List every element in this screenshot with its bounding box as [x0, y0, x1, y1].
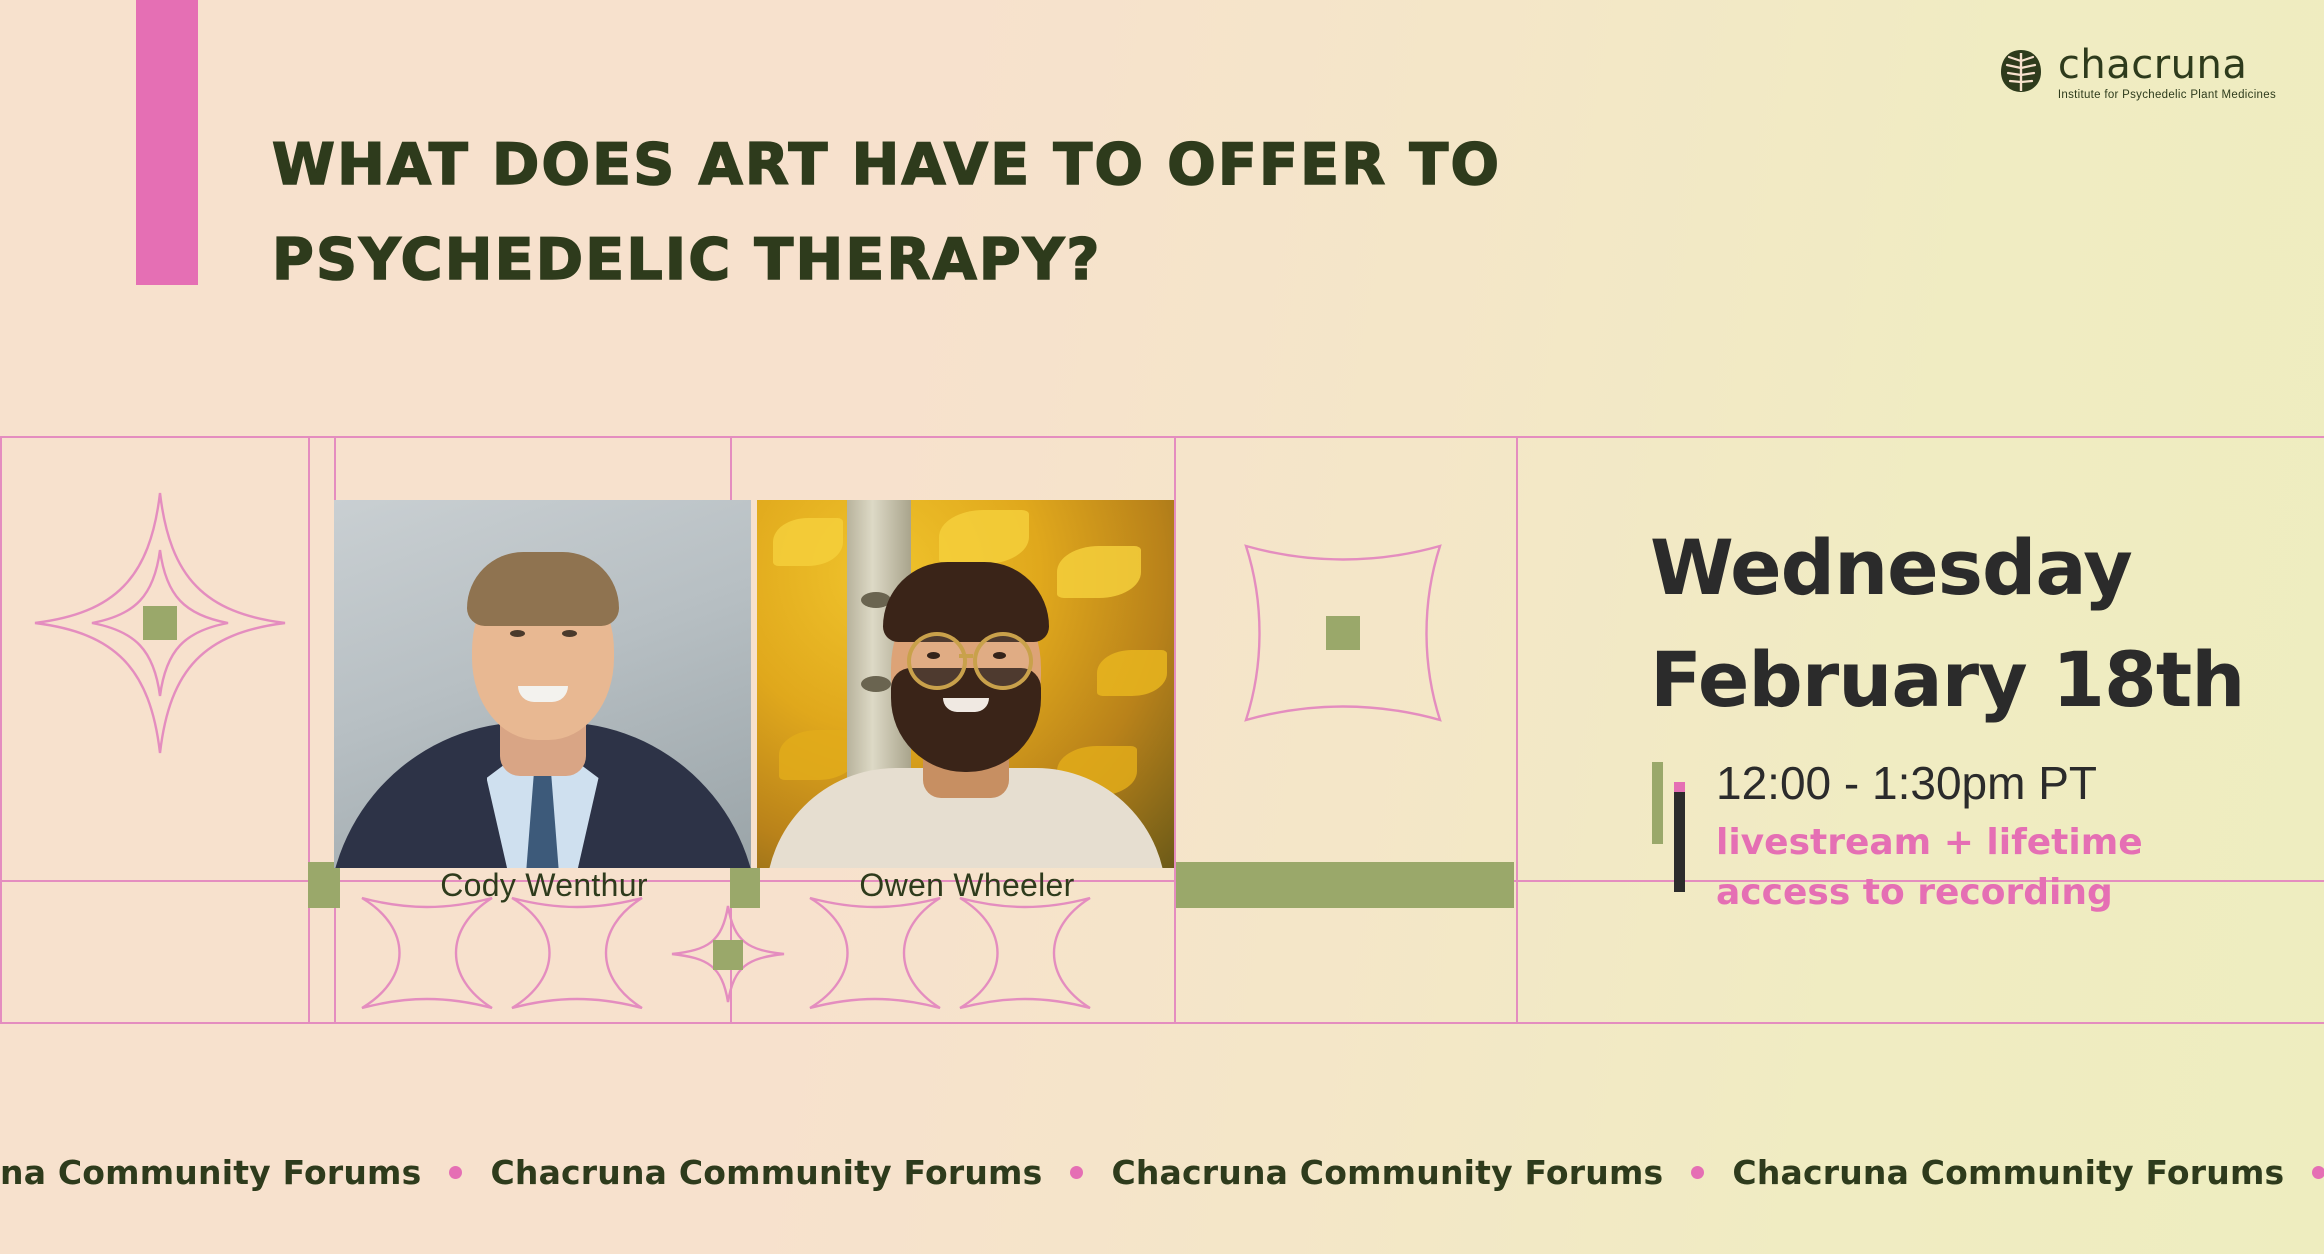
marquee-item-clipped-start: na Community Forums — [0, 1153, 421, 1192]
grid-line-v-0 — [0, 436, 2, 1024]
marquee-item: Chacruna Community Forums — [1732, 1153, 2284, 1192]
title-line-2: PSYCHEDELIC THERAPY? — [272, 213, 1522, 308]
xx-ornament-left — [352, 888, 652, 1023]
logo-tagline: Institute for Psychedelic Plant Medicine… — [2058, 89, 2276, 101]
marquee-strip: na Community Forums Chacruna Community F… — [0, 1144, 2324, 1200]
bar-accent-icon — [1650, 756, 1698, 896]
marquee-dot-icon — [2312, 1166, 2324, 1179]
grid-line-v-4 — [1174, 436, 1176, 1024]
chacruna-logo: chacruna Institute for Psychedelic Plant… — [1998, 44, 2276, 101]
speaker-name-2: Owen Wheeler — [760, 862, 1174, 908]
pink-accent-bar — [136, 0, 198, 285]
grid-line-h-top — [0, 436, 2324, 438]
time-and-access: 12:00 - 1:30pm PT livestream + lifetime … — [1716, 756, 2143, 918]
marquee-dot-icon — [449, 1166, 462, 1179]
small-diamond-ornament — [668, 902, 788, 1011]
xx-ornament-right — [800, 888, 1100, 1023]
marquee-item: Chacruna Community Forums — [490, 1153, 1042, 1192]
grid-line-h-bottom — [0, 1022, 2324, 1024]
event-time-row: 12:00 - 1:30pm PT livestream + lifetime … — [1650, 756, 2290, 918]
olive-swatch-right — [1176, 862, 1514, 908]
logo-text: chacruna Institute for Psychedelic Plant… — [2058, 44, 2276, 101]
access-line-1: livestream + lifetime — [1716, 818, 2143, 868]
access-line-2: access to recording — [1716, 868, 2143, 918]
event-time: 12:00 - 1:30pm PT — [1716, 756, 2143, 810]
title-line-1: WHAT DOES ART HAVE TO OFFER TO — [272, 118, 1522, 213]
speaker-photo-2 — [751, 500, 1174, 868]
diamond-ornament-left — [30, 488, 290, 763]
squircle-ornament-right — [1238, 538, 1448, 733]
event-promo-banner: WHAT DOES ART HAVE TO OFFER TO PSYCHEDEL… — [0, 0, 2324, 1254]
event-day: Wednesday — [1650, 512, 2290, 624]
event-details: Wednesday February 18th 12:00 - 1:30pm P… — [1650, 512, 2290, 918]
speaker-photo-1 — [334, 500, 751, 868]
leaf-icon — [1998, 48, 2044, 94]
speaker-name-1: Cody Wenthur — [334, 862, 754, 908]
speaker-photos — [334, 500, 1174, 868]
marquee-dot-icon — [1070, 1166, 1083, 1179]
event-date: February 18th — [1650, 624, 2290, 736]
page-title: WHAT DOES ART HAVE TO OFFER TO PSYCHEDEL… — [272, 118, 1522, 308]
grid-line-v-5 — [1516, 436, 1518, 1024]
marquee-item: Chacruna Community Forums — [1111, 1153, 1663, 1192]
logo-wordmark: chacruna — [2058, 44, 2248, 86]
grid-line-v-1 — [308, 436, 310, 1024]
marquee-dot-icon — [1691, 1166, 1704, 1179]
